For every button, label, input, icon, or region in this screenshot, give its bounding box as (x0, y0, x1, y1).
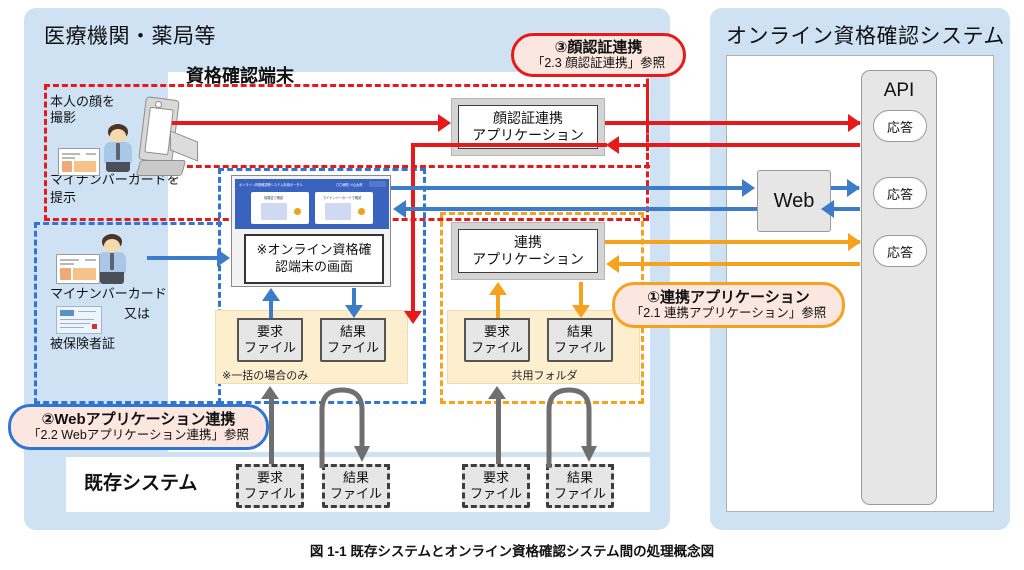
insurance-line-4 (60, 327, 84, 328)
screen-card-mynumber-label: マイナンバーカードで確認 (323, 195, 361, 200)
link-app-box: 連携 アプリケーション (451, 222, 605, 280)
person-icon-face (110, 129, 126, 143)
kiosk-base (136, 160, 187, 176)
shared-folder-request-file-line1: 要求 (484, 324, 510, 340)
arrow-red-app-to-api-head (848, 114, 861, 132)
terminal-screen-note: ※オンライン資格確 認端末の画面 (244, 234, 384, 284)
arrow-blue-web-to-screen-head (393, 200, 406, 218)
existing-system-title: 既存システム (84, 468, 197, 495)
card2-photo (60, 268, 71, 280)
diagram-canvas: 医療機関・薬局等 オンライン資格確認システム API 応答 応答 応答 Web … (0, 0, 1024, 570)
arrow-red-kiosk-to-app (172, 121, 440, 125)
existing-file-3: 要求 ファイル (462, 464, 530, 508)
insurance-line-2 (60, 319, 94, 320)
insurance-stamp (92, 324, 97, 329)
face-auth-app-line1: 顔認証連携 (493, 110, 563, 128)
card2-orange-band (73, 268, 96, 280)
callout-link-app-title: ①連携アプリケーション (647, 289, 809, 306)
arrow-grey-loop-shared (539, 382, 609, 468)
arrow-grey-existing3-up-head (488, 386, 506, 399)
screen-logout-button[interactable] (369, 181, 386, 187)
face-auth-dashed-region-lower (160, 156, 650, 168)
arrow-red-vertical-down (411, 143, 415, 315)
shared-folder-caption: 共用フォルダ (448, 367, 641, 383)
card-line-1 (62, 153, 80, 155)
panel-clinic-title: 医療機関・薬局等 (44, 20, 216, 50)
shared-folder-request-file: 要求 ファイル (464, 318, 530, 362)
arrow-blue-web-to-api-head (847, 179, 860, 197)
link-app-inner: 連携 アプリケーション (458, 229, 598, 273)
arrow-red-elbow-to-app (411, 143, 607, 147)
arrow-grey-loop-web (312, 382, 382, 468)
arrow-orange-api-to-app-head (606, 255, 619, 273)
existing-file-1-line2: ファイル (244, 486, 296, 502)
panel-online-system-title: オンライン資格確認システム (726, 20, 1005, 50)
arrow-blue-result-down-head (345, 305, 363, 318)
existing-file-4: 結果 ファイル (546, 464, 614, 508)
web-folder-request-file: 要求 ファイル (237, 318, 303, 362)
web-folder-request-file-line1: 要求 (257, 324, 283, 340)
callout-face-auth-title: ③顔認証連携 (555, 39, 643, 56)
arrow-red-kiosk-to-app-head (438, 114, 451, 132)
card2-line-3 (85, 259, 96, 261)
callout-web-app-reference: 「2.2 Webアプリケーション連携」参照 (28, 428, 249, 442)
person2-icon-face (104, 239, 120, 253)
web-folder-result-file-line2: ファイル (327, 340, 379, 356)
face-capture-label-line1: 本人の顔を (50, 94, 115, 110)
kiosk-card-tray (170, 130, 198, 161)
arrow-orange-app-to-api (605, 240, 860, 244)
person2-icon-tie (110, 253, 114, 270)
face-capture-label-line4: 提示 (50, 190, 76, 206)
arrow-grey-existing1-up (269, 398, 274, 464)
arrow-orange-request-up (496, 294, 500, 318)
arrow-red-api-to-app-head (606, 136, 619, 154)
existing-file-2-line1: 結果 (343, 470, 369, 486)
card-photo (62, 161, 72, 172)
screen-header-left: オンライン資格確認等システム利用ポータル (239, 182, 303, 187)
existing-file-2: 結果 ファイル (322, 464, 390, 508)
arrow-blue-request-up-head (262, 288, 280, 301)
existing-file-1: 要求 ファイル (236, 464, 304, 508)
arrow-blue-result-down (352, 288, 356, 306)
web-folder-request-file-line2: ファイル (244, 340, 296, 356)
insurance-line-3 (60, 323, 90, 324)
web-app-folder-caption: ※一括の場合のみ (222, 367, 308, 383)
card-line-2 (62, 157, 75, 159)
arrow-orange-request-up-head (489, 282, 507, 295)
api-response-pill-1: 応答 (873, 110, 927, 142)
insurance-card-icon (56, 306, 102, 334)
mynumber-card-icon (58, 148, 100, 176)
card2-line-1 (60, 259, 79, 261)
person-icon-tie (116, 143, 120, 160)
card2-line-2 (60, 263, 74, 265)
callout-web-app-title: ②Webアプリケーション連携 (42, 411, 236, 428)
insurance-line-1 (78, 311, 96, 312)
insurance-card-title (60, 310, 74, 316)
face-auth-kiosk-icon (132, 98, 204, 190)
shared-folder-result-file-line1: 結果 (567, 324, 593, 340)
shared-folder-result-file-line2: ファイル (554, 340, 606, 356)
screen-card-insurance-dot (294, 208, 301, 215)
card-label-or: 又は (124, 306, 150, 322)
arrow-grey-existing1-up-head (261, 386, 279, 399)
link-app-line1: 連携 (514, 234, 542, 252)
link-app-line2: アプリケーション (472, 251, 584, 269)
callout-face-auth-reference: 「2.3 顔認証連携」参照 (532, 56, 665, 70)
arrow-blue-api-to-web-head (821, 200, 834, 218)
callout-link-app[interactable]: ①連携アプリケーション 「2.1 連携アプリケーション」参照 (612, 282, 845, 328)
web-folder-result-file-line1: 結果 (340, 324, 366, 340)
arrow-blue-web-to-screen (405, 207, 757, 211)
screen-card-insurance-label: 保険証で確認 (264, 195, 283, 200)
mynumber-card-icon-2 (56, 254, 100, 284)
existing-file-3-line1: 要求 (483, 470, 509, 486)
arrow-red-api-to-app (618, 143, 860, 147)
existing-file-3-line2: ファイル (470, 486, 522, 502)
web-folder-result-file: 結果 ファイル (320, 318, 386, 362)
card-label-mynumber: マイナンバーカード (50, 286, 167, 302)
arrow-blue-person-to-screen (147, 256, 219, 260)
callout-web-app[interactable]: ②Webアプリケーション連携 「2.2 Webアプリケーション連携」参照 (8, 404, 269, 450)
arrow-orange-result-down-head (572, 305, 590, 318)
arrow-blue-request-up (269, 300, 273, 318)
existing-file-1-line1: 要求 (257, 470, 283, 486)
figure-caption: 図 1-1 既存システムとオンライン資格確認システム間の処理概念図 (0, 540, 1024, 560)
existing-file-2-line2: ファイル (330, 486, 382, 502)
screen-blue-area: オンライン資格確認等システム利用ポータル 〇〇病院 川山太郎 保険証で確認 マイ… (235, 179, 389, 229)
screen-header-right: 〇〇病院 川山太郎 (336, 182, 362, 187)
screen-card-insurance-thumb (261, 203, 287, 220)
person2-icon-legs (100, 272, 124, 284)
card-presentation-illustration: マイナンバーカード 又は 被保険者証 (50, 230, 200, 355)
existing-file-4-line1: 結果 (567, 470, 593, 486)
arrow-grey-existing3-up (496, 398, 501, 464)
screen-card-insurance[interactable]: 保険証で確認 (251, 192, 309, 224)
person-icon-legs (106, 162, 130, 172)
screen-card-mynumber[interactable]: マイナンバーカードで確認 (315, 192, 373, 224)
screen-card-mynumber-thumb (325, 203, 351, 220)
card-label-insurance: 被保険者証 (50, 336, 115, 352)
shared-folder-request-file-line2: ファイル (471, 340, 523, 356)
shared-folder-result-file: 結果 ファイル (547, 318, 613, 362)
api-label: API (861, 80, 937, 102)
card-orange-band (74, 161, 96, 172)
arrow-blue-person-to-screen-head (217, 249, 230, 267)
arrow-red-vertical-head (404, 311, 422, 324)
face-capture-label-line2: 撮影 (50, 110, 76, 126)
terminal-screen-note-line2: 認端末の画面 (275, 259, 353, 276)
web-box: Web (757, 170, 831, 232)
arrow-red-app-to-api (605, 121, 860, 125)
arrow-orange-api-to-app (618, 262, 860, 266)
terminal-screen-note-line1: ※オンライン資格確 (257, 242, 372, 259)
card-line-3 (86, 153, 96, 155)
existing-file-4-line2: ファイル (554, 486, 606, 502)
arrow-orange-result-down (579, 282, 583, 306)
terminal-screen-mock: オンライン資格確認等システム利用ポータル 〇〇病院 川山太郎 保険証で確認 マイ… (231, 175, 391, 287)
api-response-pill-3: 応答 (873, 235, 927, 267)
arrow-blue-screen-to-web (391, 186, 743, 190)
arrow-orange-app-to-api-head (848, 233, 861, 251)
face-capture-illustration: 本人の顔を 撮影 マイナンバーカードを 提示 (50, 92, 210, 214)
callout-link-app-reference: 「2.1 連携アプリケーション」参照 (631, 306, 827, 320)
face-auth-app-line2: アプリケーション (472, 127, 584, 145)
face-auth-app-box: 顔認証連携 アプリケーション (451, 98, 605, 156)
arrow-blue-screen-to-web-head (742, 179, 755, 197)
kiosk-camera (155, 101, 162, 108)
api-response-pill-2: 応答 (873, 177, 927, 209)
screen-card-mynumber-dot (358, 208, 365, 215)
callout-face-auth[interactable]: ③顔認証連携 「2.3 顔認証連携」参照 (511, 33, 686, 77)
arrow-blue-api-to-web (833, 207, 860, 211)
